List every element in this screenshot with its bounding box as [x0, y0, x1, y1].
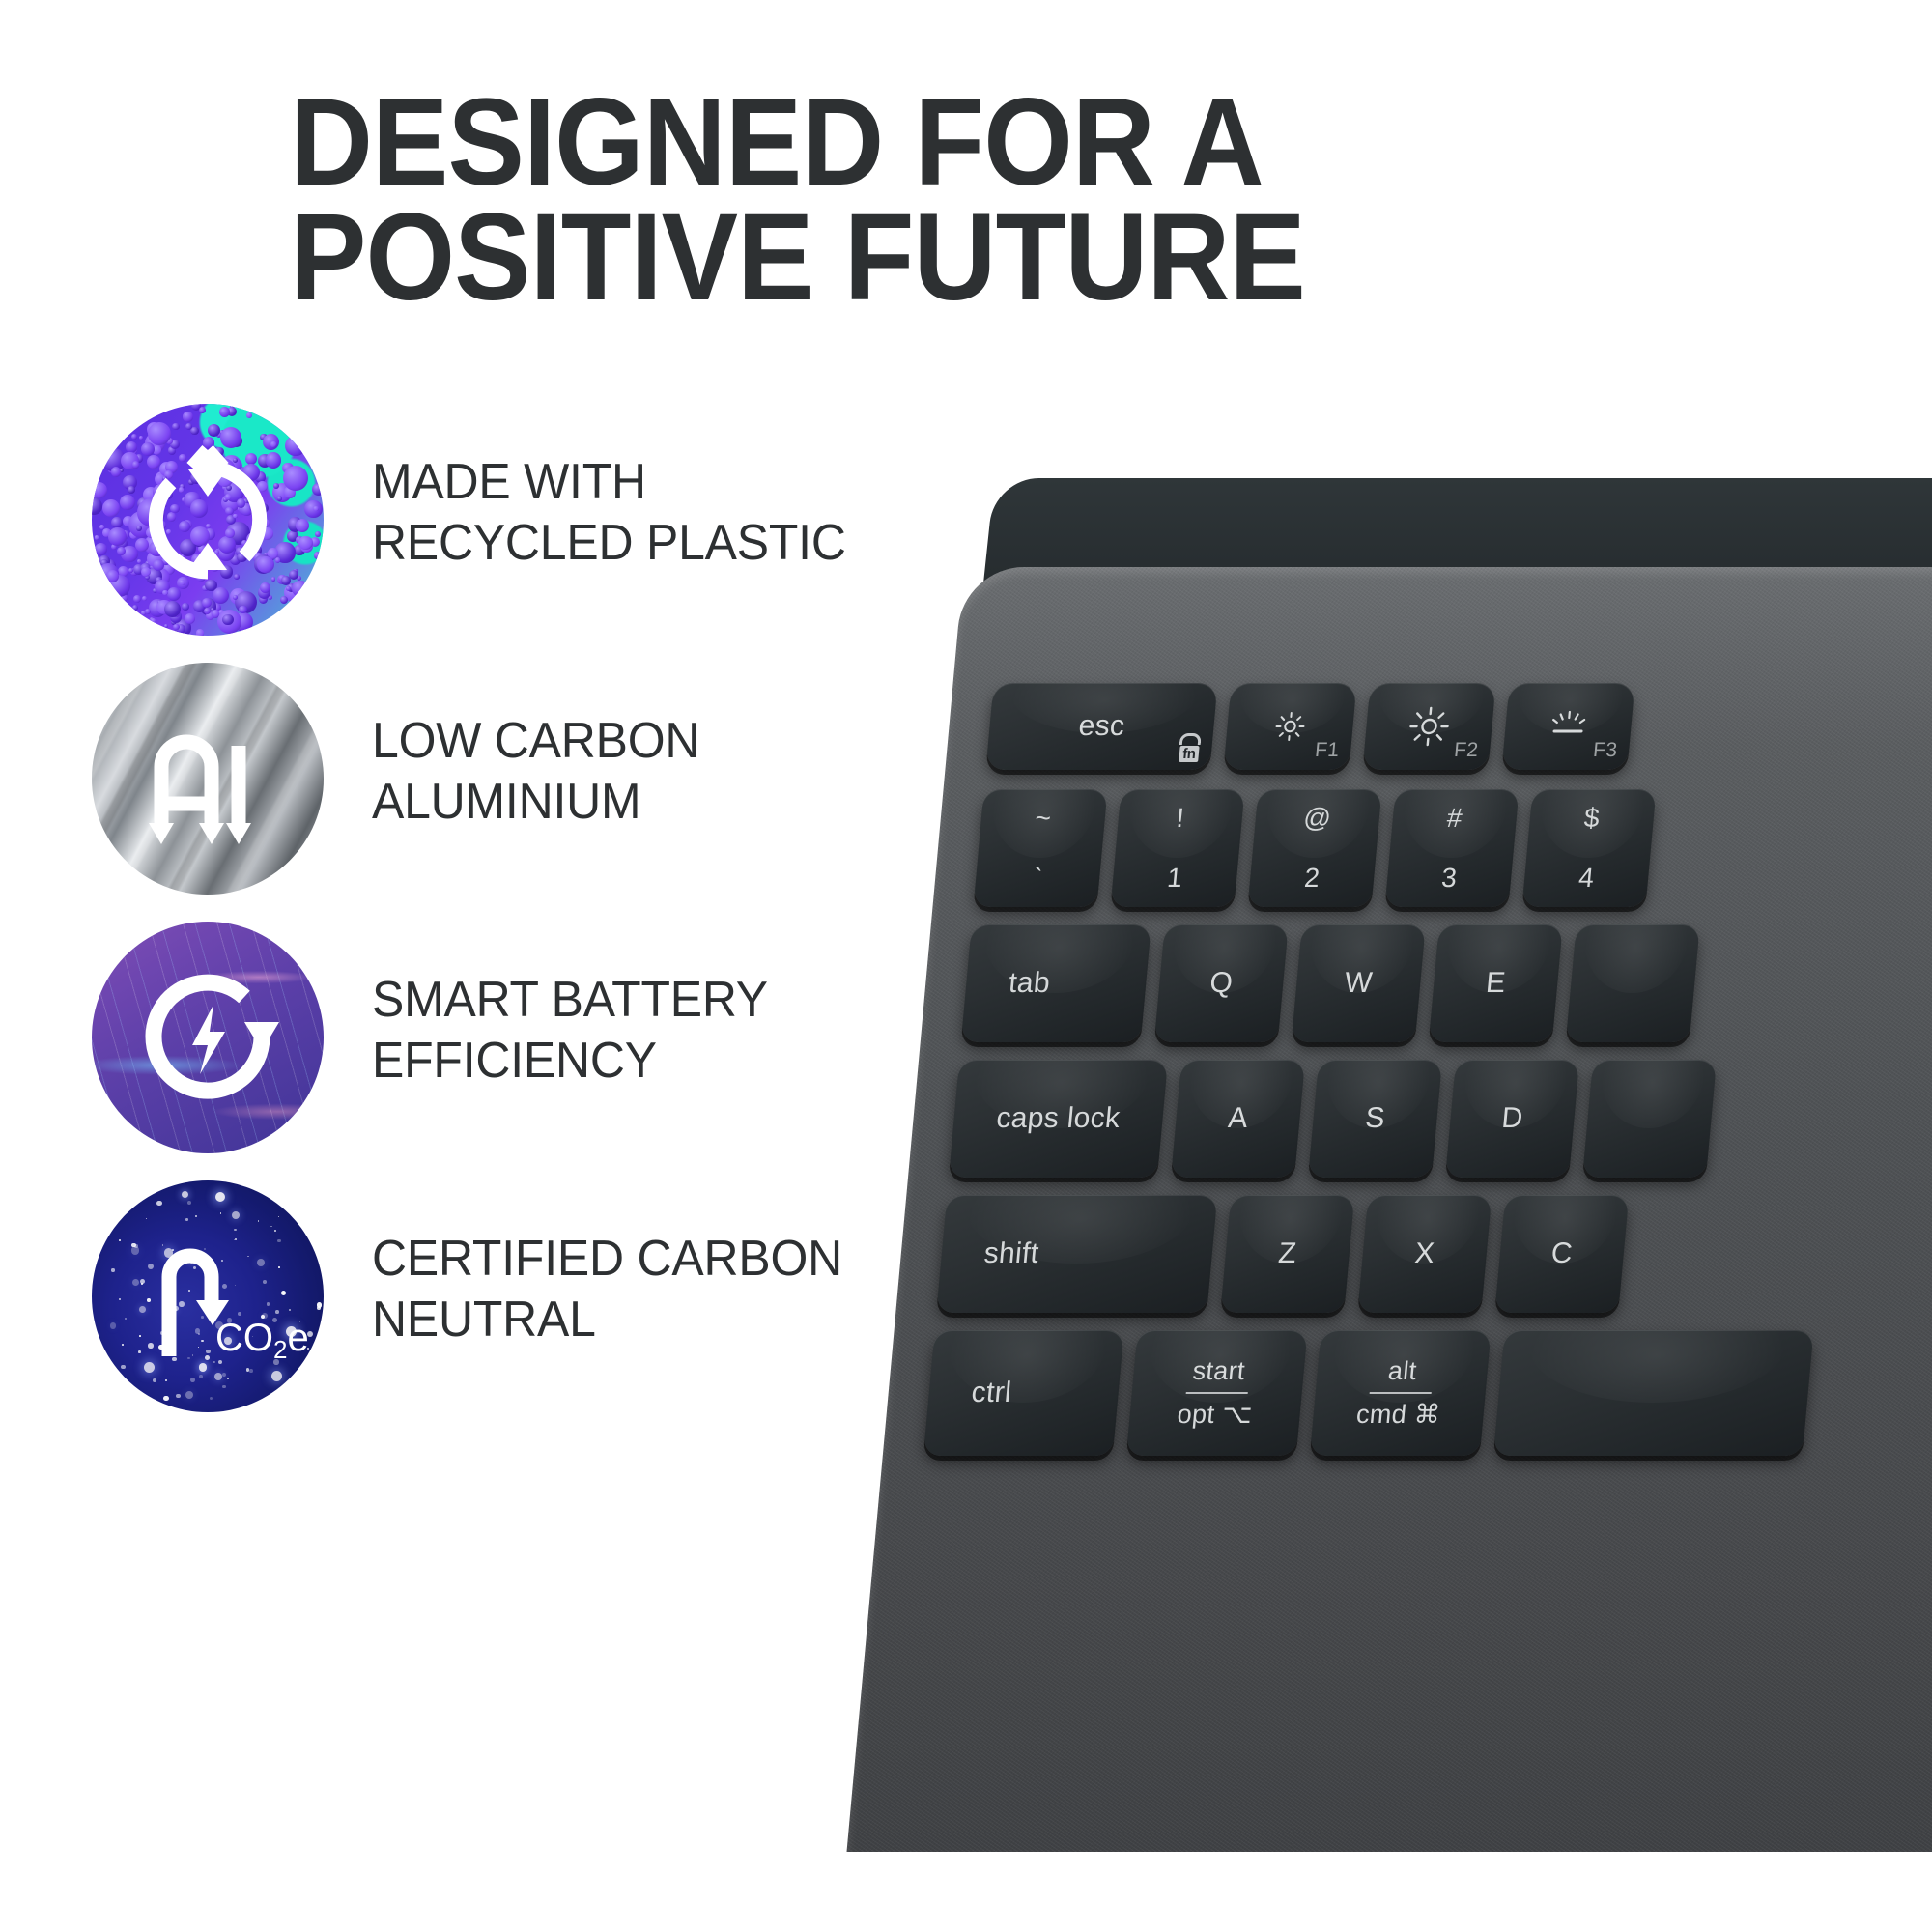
key-a-label: A [1227, 1102, 1249, 1135]
key-z[interactable]: Z [1220, 1195, 1354, 1313]
key-esc[interactable]: esc fn [985, 683, 1217, 770]
feature-carbon-neutral: CO2e CERTIFIED CARBON NEUTRAL [92, 1180, 894, 1439]
key-d[interactable]: D [1445, 1060, 1579, 1178]
key-alt-label: alt [1387, 1356, 1418, 1386]
key-tab-label: tab [990, 967, 1069, 1000]
brightness-down-icon [1271, 709, 1309, 744]
co2e-label: CO2e [215, 1317, 309, 1364]
key-shift-label: shift [965, 1237, 1058, 1270]
key-x[interactable]: X [1357, 1195, 1492, 1313]
feature-label-line-1: MADE WITH [372, 452, 872, 513]
key-4-shift-label: $ [1528, 803, 1655, 834]
key-shift[interactable]: shift [936, 1195, 1217, 1313]
key-f[interactable] [1582, 1060, 1717, 1178]
key-f1-fkey-label: F1 [1314, 739, 1340, 762]
feature-list: MADE WITH RECYCLED PLASTIC LOW CARBON AL… [92, 404, 894, 1439]
key-f1[interactable]: F1 [1223, 683, 1356, 770]
key-a[interactable]: A [1171, 1060, 1305, 1178]
key-1-shift-label: ! [1117, 803, 1243, 834]
key-f2-fkey-label: F2 [1453, 739, 1479, 762]
key-start-label: start [1191, 1356, 1246, 1386]
feature-label-line-2: RECYCLED PLASTIC [372, 513, 872, 574]
key-caps-lock-label: caps lock [978, 1102, 1139, 1135]
key-s-label: S [1364, 1102, 1386, 1135]
key-z-label: Z [1277, 1237, 1298, 1270]
key-3[interactable]: # 3 [1384, 789, 1519, 907]
key-2[interactable]: @ 2 [1247, 789, 1381, 907]
certified-carbon-neutral-badge: CO2e [92, 1180, 324, 1412]
key-1-label: 1 [1112, 863, 1238, 894]
key-e[interactable]: E [1429, 924, 1563, 1042]
key-f3-fkey-label: F3 [1592, 739, 1618, 762]
keyboard-keys: esc fn F1 [846, 567, 1932, 1852]
key-divider [1370, 1392, 1432, 1394]
key-start-opt-labels: start opt ⌥ [1176, 1356, 1258, 1430]
key-opt-label: opt ⌥ [1176, 1400, 1253, 1430]
key-ctrl[interactable]: ctrl [923, 1330, 1124, 1456]
key-d-label: D [1500, 1102, 1524, 1135]
page-title-line-2: POSITIVE FUTURE [290, 200, 1476, 315]
key-c[interactable]: C [1494, 1195, 1629, 1313]
key-tab[interactable]: tab [961, 924, 1151, 1042]
key-w[interactable]: W [1292, 924, 1426, 1042]
brightness-up-icon [1406, 705, 1453, 748]
page-title: DESIGNED FOR A POSITIVE FUTURE [290, 85, 1476, 315]
key-tilde-label: ` [975, 863, 1101, 894]
key-space[interactable] [1493, 1330, 1814, 1456]
key-ctrl-label: ctrl [952, 1377, 1030, 1409]
recycle-icon [92, 404, 324, 636]
key-divider [1186, 1392, 1248, 1394]
mx-keys-keyboard: esc fn F1 [884, 478, 1932, 1850]
feature-label-line-1: CERTIFIED CARBON [372, 1229, 872, 1290]
key-x-label: X [1413, 1237, 1435, 1270]
key-4-label: 4 [1523, 863, 1650, 894]
fn-lock-icon: fn [1178, 733, 1202, 762]
recycled-plastic-badge [92, 404, 324, 636]
key-f2[interactable]: F2 [1362, 683, 1495, 770]
key-e-label: E [1485, 967, 1507, 1000]
aluminium-down-arrows-icon [92, 663, 324, 895]
key-tilde-shift-label: ~ [980, 803, 1106, 834]
key-1[interactable]: ! 1 [1110, 789, 1244, 907]
key-3-shift-label: # [1391, 803, 1518, 834]
low-carbon-aluminium-badge [92, 663, 324, 895]
key-esc-label: esc [1060, 710, 1144, 743]
key-r[interactable] [1566, 924, 1700, 1042]
key-f3[interactable]: F3 [1501, 683, 1634, 770]
key-caps-lock[interactable]: caps lock [949, 1060, 1168, 1178]
key-s[interactable]: S [1308, 1060, 1442, 1178]
feature-label-line-1: LOW CARBON [372, 711, 872, 772]
feature-label-recycled-plastic: MADE WITH RECYCLED PLASTIC [372, 452, 872, 575]
key-w-label: W [1343, 967, 1374, 1000]
battery-bolt-refresh-icon [92, 922, 324, 1153]
key-start-opt[interactable]: start opt ⌥ [1126, 1330, 1308, 1456]
carbon-neutral-arrow-icon: CO2e [92, 1180, 324, 1412]
feature-label-carbon-neutral: CERTIFIED CARBON NEUTRAL [372, 1229, 872, 1351]
key-tilde[interactable]: ~ ` [973, 789, 1107, 907]
feature-label-smart-battery: SMART BATTERY EFFICIENCY [372, 970, 872, 1093]
key-alt-cmd[interactable]: alt cmd ⌘ [1310, 1330, 1492, 1456]
key-4[interactable]: $ 4 [1521, 789, 1656, 907]
backlight-icon [1546, 710, 1591, 743]
key-q[interactable]: Q [1154, 924, 1289, 1042]
key-cmd-label: cmd ⌘ [1355, 1400, 1442, 1430]
feature-label-line-2: ALUMINIUM [372, 772, 872, 833]
smart-battery-badge [92, 922, 324, 1153]
feature-label-low-carbon-aluminium: LOW CARBON ALUMINIUM [372, 711, 872, 834]
feature-label-line-1: SMART BATTERY [372, 970, 872, 1031]
key-alt-cmd-labels: alt cmd ⌘ [1355, 1356, 1446, 1430]
key-2-label: 2 [1249, 863, 1376, 894]
key-c-label: C [1549, 1237, 1574, 1270]
key-q-label: Q [1208, 967, 1235, 1000]
feature-label-line-2: NEUTRAL [372, 1290, 872, 1350]
feature-label-line-2: EFFICIENCY [372, 1031, 872, 1092]
key-2-shift-label: @ [1254, 803, 1380, 834]
key-3-label: 3 [1386, 863, 1513, 894]
feature-recycled-plastic: MADE WITH RECYCLED PLASTIC [92, 404, 894, 663]
feature-low-carbon-aluminium: LOW CARBON ALUMINIUM [92, 663, 894, 922]
feature-smart-battery: SMART BATTERY EFFICIENCY [92, 922, 894, 1180]
